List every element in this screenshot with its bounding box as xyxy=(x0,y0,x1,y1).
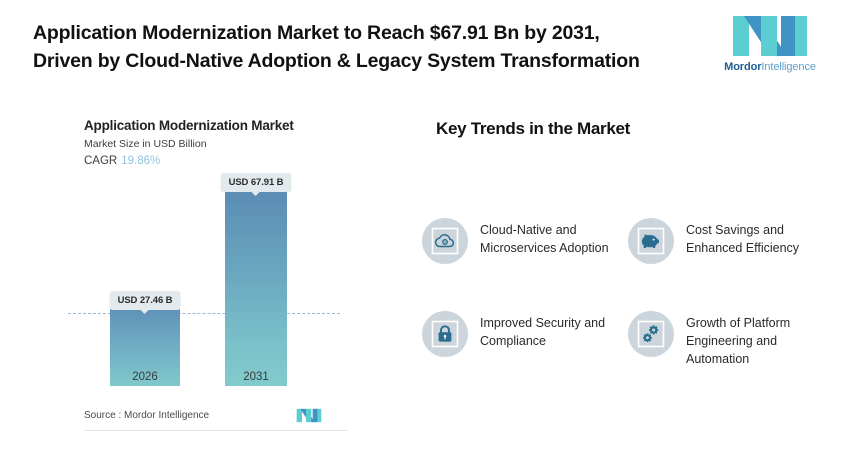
reference-dashed-line xyxy=(68,313,340,314)
market-size-chart-card: Application Modernization Market Market … xyxy=(62,108,344,440)
mordor-intelligence-logo: MordorIntelligence xyxy=(712,14,828,80)
key-trends-panel: Key Trends in the Market Cloud-Native an… xyxy=(404,108,834,408)
cloud-gear-icon xyxy=(430,226,460,256)
piggy-bank-icon xyxy=(636,226,666,256)
trend-label: Cloud-Native and Microservices Adoption xyxy=(480,216,620,257)
mordor-m-mark-icon xyxy=(731,14,809,58)
page-title: Application Modernization Market to Reac… xyxy=(33,20,693,75)
source-label: Source : Mordor Intelligence xyxy=(84,410,209,421)
trend-label: Cost Savings and Enhanced Efficiency xyxy=(686,216,826,257)
trend-item-platform-engineering: Growth of Platform Engineering and Autom… xyxy=(628,309,834,402)
trend-icon-badge xyxy=(628,218,674,264)
chart-subtitle: Market Size in USD Billion xyxy=(84,138,207,150)
key-trends-title: Key Trends in the Market xyxy=(436,119,630,139)
x-axis-label-2031: 2031 xyxy=(243,371,269,383)
bar-2031 xyxy=(225,189,287,386)
x-axis-label-2026: 2026 xyxy=(132,371,158,383)
chart-title: Application Modernization Market xyxy=(84,118,294,133)
trend-item-cloud-native: Cloud-Native and Microservices Adoption xyxy=(422,216,628,309)
bar-value-label-2026: USD 27.46 B xyxy=(110,291,181,310)
bar-value-label-2031: USD 67.91 B xyxy=(221,173,292,192)
trend-icon-badge xyxy=(628,311,674,357)
trend-item-improved-security: Improved Security and Compliance xyxy=(422,309,628,402)
brand-word-bold: Mordor xyxy=(724,61,761,73)
gears-icon xyxy=(636,319,666,349)
card-divider xyxy=(84,430,348,431)
lock-icon xyxy=(430,319,460,349)
brand-wordmark: MordorIntelligence xyxy=(724,61,816,73)
page-header: Application Modernization Market to Reac… xyxy=(0,0,860,96)
key-trends-grid: Cloud-Native and Microservices Adoption … xyxy=(422,216,834,402)
trend-label: Improved Security and Compliance xyxy=(480,309,620,350)
page-title-line-2: Driven by Cloud-Native Adoption & Legacy… xyxy=(33,48,693,76)
source-mordor-m-mark-icon xyxy=(296,408,322,423)
page-title-line-1: Application Modernization Market to Reac… xyxy=(33,20,693,48)
trend-label: Growth of Platform Engineering and Autom… xyxy=(686,309,826,368)
trend-item-cost-savings: Cost Savings and Enhanced Efficiency xyxy=(628,216,834,309)
brand-word-light: Intelligence xyxy=(761,61,815,73)
trend-icon-badge xyxy=(422,218,468,264)
trend-icon-badge xyxy=(422,311,468,357)
chart-source-row: Source : Mordor Intelligence xyxy=(84,408,322,423)
chart-plot-area: USD 67.91 B USD 27.46 B 2026 2031 xyxy=(62,166,344,386)
